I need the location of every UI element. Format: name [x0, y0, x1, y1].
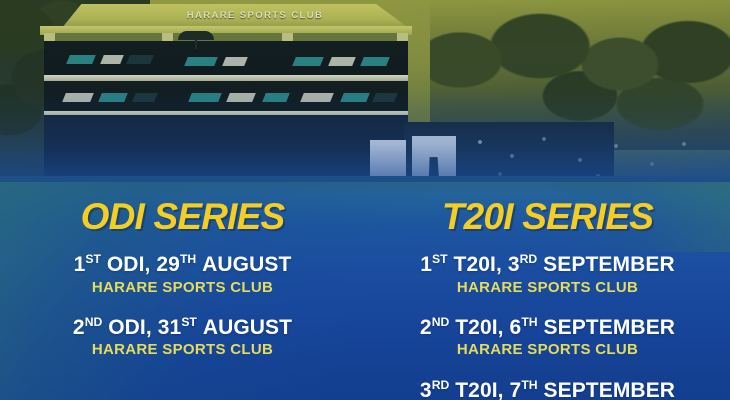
- match-day: 31: [158, 316, 182, 339]
- stadium-photo: HARARE SPORTS CLUB: [0, 0, 730, 200]
- fixture-odi-2-line: 2ND ODI, 31ST AUGUST: [73, 316, 292, 340]
- seating-block: [184, 57, 218, 66]
- seating-block: [100, 55, 124, 64]
- odi-series-title: ODI SERIES: [81, 198, 285, 235]
- pavilion-sign-text: HARARE SPORTS CLUB: [160, 8, 350, 22]
- match-day: 3: [508, 253, 520, 276]
- series-columns: ODI SERIES 1ST ODI, 29TH AUGUST HARARE S…: [0, 182, 730, 400]
- fixture-t20i-1-venue: HARARE SPORTS CLUB: [420, 278, 674, 298]
- match-format: ODI: [108, 316, 146, 339]
- match-format: T20I: [455, 379, 497, 400]
- fixture-odi-2-venue: HARARE SPORTS CLUB: [73, 340, 292, 360]
- match-month: AUGUST: [202, 253, 291, 276]
- match-month: SEPTEMBER: [543, 253, 675, 276]
- fixture-odi-1-line: 1ST ODI, 29TH AUGUST: [74, 253, 292, 277]
- fixture-t20i-2: 2ND T20I, 6TH SEPTEMBER HARARE SPORTS CL…: [420, 316, 675, 361]
- match-format: ODI: [107, 253, 145, 276]
- match-day: 7: [510, 379, 522, 400]
- seating-block: [328, 57, 356, 66]
- day-suffix: TH: [521, 378, 537, 392]
- fixture-t20i-1-line: 1ST T20I, 3RD SEPTEMBER: [420, 253, 674, 277]
- ordinal-suffix: ND: [432, 315, 450, 329]
- fixture-t20i-2-venue: HARARE SPORTS CLUB: [420, 340, 675, 360]
- fixture-odi-2: 2ND ODI, 31ST AUGUST HARARE SPORTS CLUB: [73, 316, 292, 361]
- ordinal-suffix: RD: [432, 378, 450, 392]
- fixture-t20i-3-line: 3RD T20I, 7TH SEPTEMBER: [420, 379, 675, 400]
- ordinal-suffix: ND: [85, 315, 103, 329]
- fixtures-poster: HARARE SPORTS CLUB: [0, 0, 730, 400]
- day-suffix: RD: [520, 252, 538, 266]
- match-day: 29: [156, 253, 180, 276]
- ordinal-suffix: ST: [85, 252, 101, 266]
- ordinal-suffix: ST: [432, 252, 448, 266]
- fixture-odi-1: 1ST ODI, 29TH AUGUST HARARE SPORTS CLUB: [74, 253, 292, 298]
- match-day: 6: [510, 316, 522, 339]
- seating-block: [372, 93, 398, 102]
- match-month: SEPTEMBER: [543, 379, 675, 400]
- seating-block: [360, 57, 390, 66]
- ordinal: 2: [420, 316, 432, 339]
- seating-block: [126, 55, 154, 64]
- ordinal: 1: [74, 253, 86, 276]
- seating-block: [262, 93, 290, 102]
- seating-block: [62, 93, 94, 102]
- seating-block: [300, 93, 334, 102]
- match-month: SEPTEMBER: [543, 316, 675, 339]
- match-format: T20I: [455, 316, 497, 339]
- day-suffix: TH: [521, 315, 537, 329]
- fixture-odi-1-venue: HARARE SPORTS CLUB: [74, 278, 292, 298]
- fixture-t20i-3: 3RD T20I, 7TH SEPTEMBER: [420, 379, 675, 400]
- seating-block: [222, 57, 248, 66]
- match-format: T20I: [454, 253, 496, 276]
- ordinal: 2: [73, 316, 85, 339]
- seating-block: [340, 93, 370, 102]
- t20i-series-title: T20I SERIES: [442, 198, 653, 235]
- t20i-series-column: T20I SERIES 1ST T20I, 3RD SEPTEMBER HARA…: [365, 182, 730, 400]
- seating-block: [66, 55, 96, 64]
- seating-block: [188, 93, 222, 102]
- boundary-wall: [44, 115, 408, 181]
- seating-block: [226, 93, 256, 102]
- day-suffix: TH: [180, 252, 196, 266]
- day-suffix: ST: [181, 315, 197, 329]
- match-month: AUGUST: [203, 316, 292, 339]
- seating-block: [98, 93, 128, 102]
- fixture-t20i-2-line: 2ND T20I, 6TH SEPTEMBER: [420, 316, 675, 340]
- odi-series-column: ODI SERIES 1ST ODI, 29TH AUGUST HARARE S…: [0, 182, 365, 400]
- seating-block: [132, 93, 158, 102]
- seating-block: [292, 57, 324, 66]
- fixture-t20i-1: 1ST T20I, 3RD SEPTEMBER HARARE SPORTS CL…: [420, 253, 674, 298]
- umbrella-pole: [195, 39, 197, 49]
- ordinal: 1: [420, 253, 432, 276]
- ordinal: 3: [420, 379, 432, 400]
